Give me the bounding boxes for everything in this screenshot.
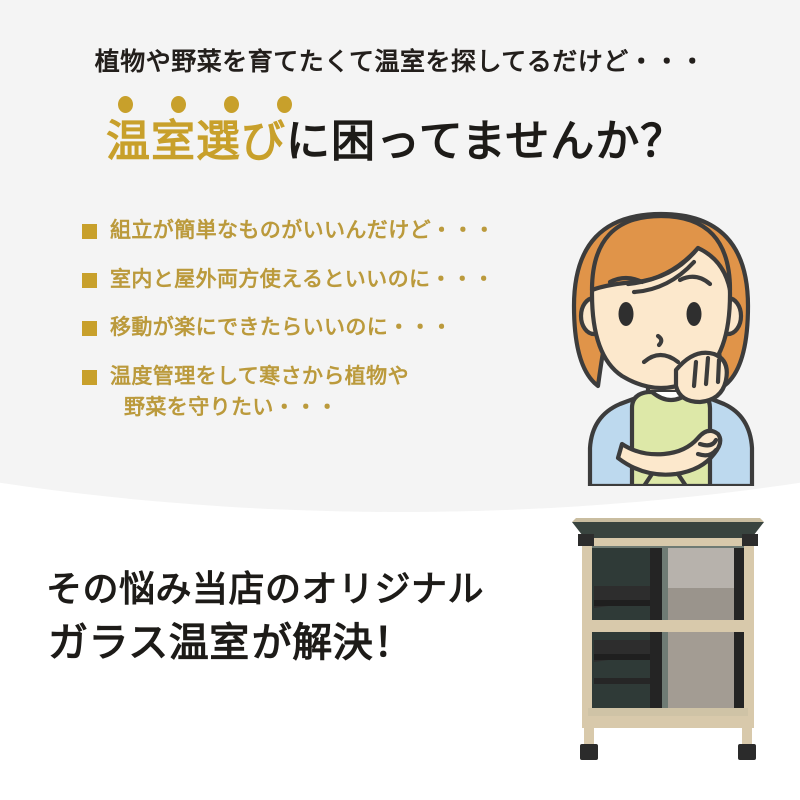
eye-right <box>687 302 702 326</box>
roof-frame-top <box>572 518 764 522</box>
lead-text: 植物や野菜を育てたくて温室を探してるだけど・・・ <box>0 42 800 78</box>
emphasis-dot <box>171 96 186 113</box>
solution-text-block: その悩み当店のオリジナル ガラス温室が解決！ <box>46 566 566 668</box>
emphasis-dot <box>277 96 292 113</box>
shelf-lower-rail <box>594 678 650 684</box>
problem-bullet-list: 組立が簡単なものがいいんだけど・・・ 室内と屋外両方使えるといいのに・・・ 移動… <box>82 216 552 441</box>
headline-gold-text: 温室選び <box>106 117 286 166</box>
worried-woman-illustration <box>548 186 778 486</box>
bullet-text: 温度管理をして寒さから植物や 野菜を守りたい・・・ <box>110 362 409 423</box>
emphasis-dot <box>224 96 239 113</box>
frame-rail-middle <box>582 620 754 632</box>
bullet-line-1: 室内と屋外両方使えるといいのに・・・ <box>110 268 495 291</box>
bullet-line-2: 野菜を守りたい・・・ <box>110 393 409 424</box>
highlighted-product-name: ガラス温室 <box>46 618 252 668</box>
problem-headline: 温室選びに困ってませんか？ <box>106 116 685 168</box>
bullet-text: 室内と屋外両方使えるといいのに・・・ <box>110 265 495 296</box>
caster-right <box>738 744 756 760</box>
finger-line-2 <box>706 358 708 384</box>
roof-corner-right <box>742 534 758 546</box>
list-item: 温度管理をして寒さから植物や 野菜を守りたい・・・ <box>82 362 552 423</box>
list-item: 組立が簡単なものがいいんだけど・・・ <box>82 216 552 247</box>
frame-post-left <box>582 546 592 722</box>
bullet-text: 移動が楽にできたらいいのに・・・ <box>110 313 452 344</box>
emphasis-dots <box>118 96 292 113</box>
roof-glass <box>572 522 764 540</box>
shelf-upper-edge <box>594 600 650 606</box>
roof-frame-front <box>578 538 758 546</box>
roof-corner-left <box>578 534 594 546</box>
bullet-square-icon <box>82 273 97 288</box>
bullet-square-icon <box>82 321 97 336</box>
bullet-square-icon <box>82 370 97 385</box>
solution-line-2: ガラス温室が解決！ <box>46 618 566 668</box>
list-item: 移動が楽にできたらいいのに・・・ <box>82 313 552 344</box>
caster-left <box>580 744 598 760</box>
bullet-text: 組立が簡単なものがいいんだけど・・・ <box>110 216 495 247</box>
headline-rest-text: に困ってませんか？ <box>286 117 685 166</box>
frame-rail-bottom <box>582 714 754 728</box>
solution-line-2-rest: が解決！ <box>252 621 414 665</box>
bullet-line-1: 温度管理をして寒さから植物や <box>110 365 409 388</box>
door-post-right <box>734 548 744 720</box>
solution-line-1: その悩み当店のオリジナル <box>46 566 566 612</box>
product-photo-greenhouse <box>568 508 768 766</box>
door-post-center <box>650 548 662 720</box>
eye-left <box>619 302 634 326</box>
base-panel <box>588 708 748 716</box>
shelf-lower-edge <box>594 654 650 660</box>
list-item: 室内と屋外両方使えるといいのに・・・ <box>82 265 552 296</box>
bullet-line-1: 組立が簡単なものがいいんだけど・・・ <box>110 219 495 242</box>
finger-line-3 <box>718 360 719 382</box>
frame-post-right <box>744 546 754 722</box>
emphasis-dot <box>118 96 133 113</box>
finger-line-1 <box>694 362 696 386</box>
banner-canvas: 植物や野菜を育てたくて温室を探してるだけど・・・ 温室選びに困ってませんか？ 組… <box>0 0 800 800</box>
bullet-line-1: 移動が楽にできたらいいのに・・・ <box>110 316 452 339</box>
bullet-square-icon <box>82 224 97 239</box>
